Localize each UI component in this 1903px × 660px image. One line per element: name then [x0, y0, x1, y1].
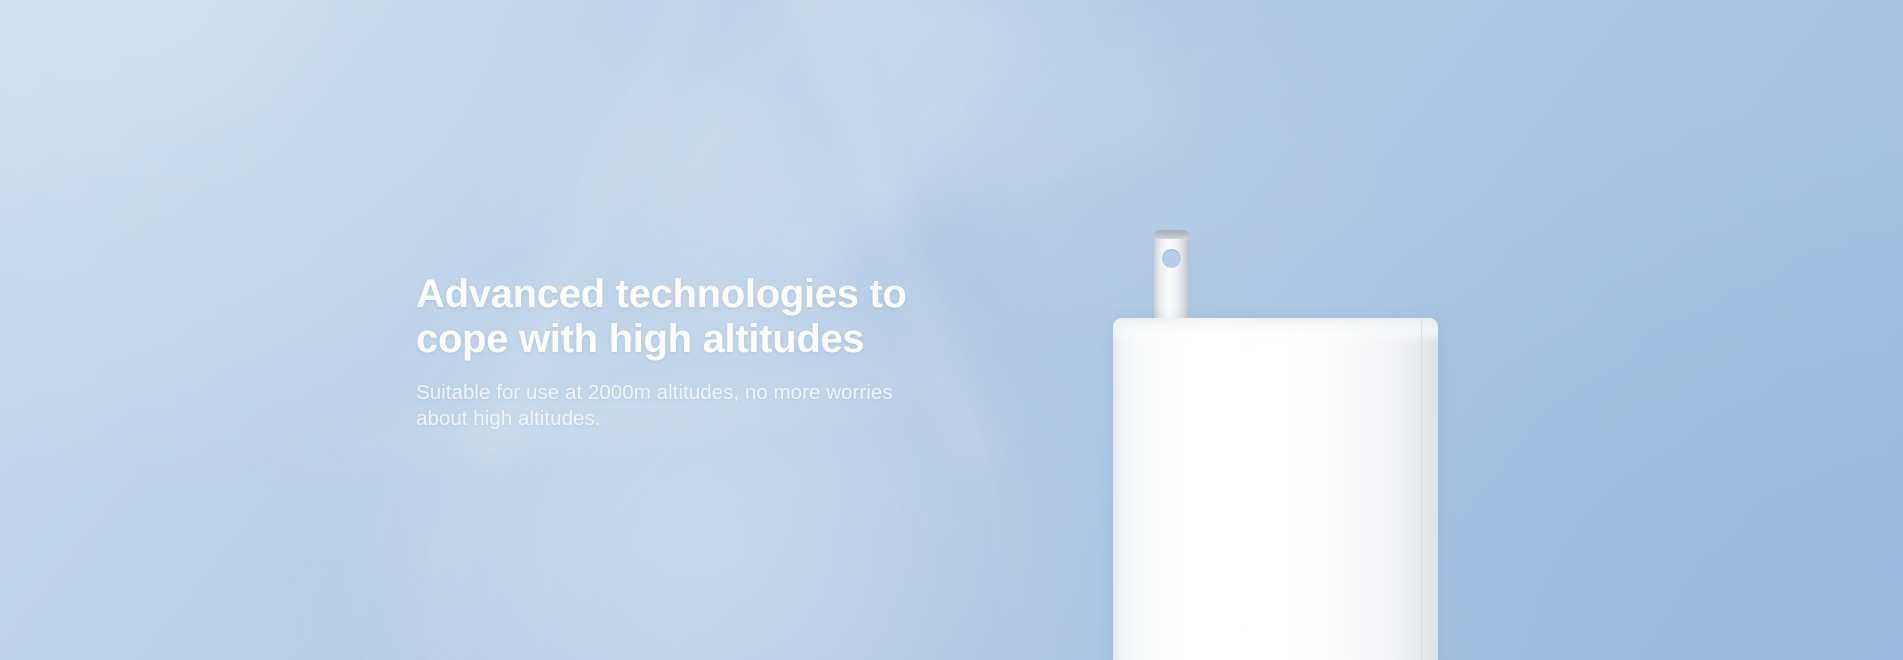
prong-cap [1154, 230, 1189, 239]
prong-blade-icon [1154, 230, 1189, 322]
subheadline: Suitable for use at 2000m altitudes, no … [416, 380, 976, 433]
hero-banner: Advanced technologies to cope with high … [0, 0, 1903, 660]
angular-shard-1 [606, 0, 1044, 293]
angular-shard-2 [801, 0, 1179, 229]
copy-block: Advanced technologies to cope with high … [416, 272, 976, 433]
adapter-seam-line [1421, 318, 1422, 660]
adapter-specular-highlight [1165, 318, 1275, 660]
angular-shard-5 [500, 52, 771, 288]
product-image-power-adapter [1113, 230, 1438, 660]
prong-hole [1162, 249, 1181, 268]
adapter-top-sheen [1113, 318, 1438, 344]
headline: Advanced technologies to cope with high … [416, 272, 976, 362]
adapter-body [1113, 318, 1438, 660]
